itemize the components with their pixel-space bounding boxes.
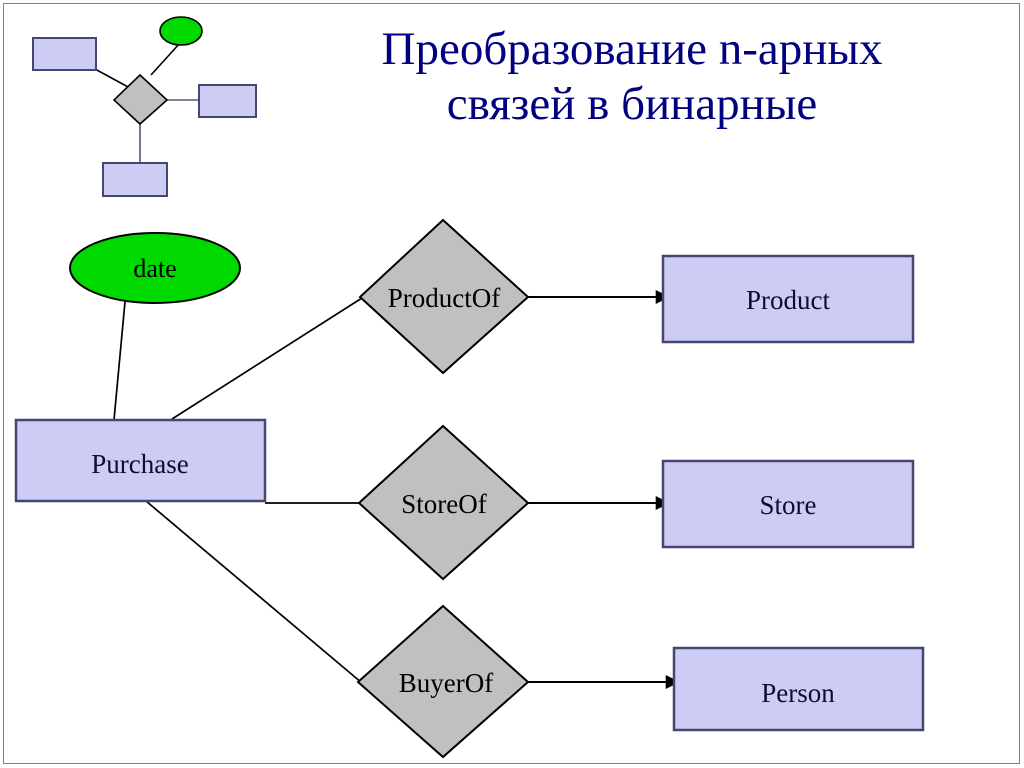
entity-store[interactable]: Store bbox=[663, 461, 913, 547]
relationship-productof[interactable]: ProductOf bbox=[360, 220, 528, 373]
entity-purchase[interactable]: Purchase bbox=[16, 420, 265, 501]
er-diagram-thumbnail bbox=[33, 17, 256, 196]
entity-person[interactable]: Person bbox=[674, 648, 923, 730]
storeof-label: StoreOf bbox=[401, 489, 486, 519]
connector-purchase-buyerof bbox=[146, 501, 362, 683]
logo-relationship bbox=[114, 75, 167, 124]
store-label: Store bbox=[760, 490, 817, 520]
buyerof-label: BuyerOf bbox=[399, 668, 493, 698]
logo-attribute bbox=[160, 17, 202, 45]
logo-entity-top-left bbox=[33, 38, 96, 70]
purchase-label: Purchase bbox=[91, 449, 188, 479]
logo-entity-bottom bbox=[103, 163, 167, 196]
date-label: date bbox=[133, 254, 176, 283]
person-label: Person bbox=[761, 678, 835, 708]
relationship-buyerof[interactable]: BuyerOf bbox=[358, 606, 528, 757]
productof-label: ProductOf bbox=[388, 283, 500, 313]
er-diagram: date Purchase ProductOf StoreOf BuyerOf … bbox=[0, 0, 1024, 768]
attribute-date[interactable]: date bbox=[70, 233, 240, 303]
slide-canvas: Преобразование n-арных связей в бинарные bbox=[0, 0, 1024, 768]
product-label: Product bbox=[746, 285, 830, 315]
logo-connector-attribute bbox=[151, 43, 180, 75]
entity-product[interactable]: Product bbox=[663, 256, 913, 342]
logo-entity-right bbox=[199, 85, 256, 117]
connector-date-purchase bbox=[114, 291, 126, 420]
connector-purchase-productof bbox=[172, 298, 362, 419]
relationship-storeof[interactable]: StoreOf bbox=[359, 426, 528, 579]
